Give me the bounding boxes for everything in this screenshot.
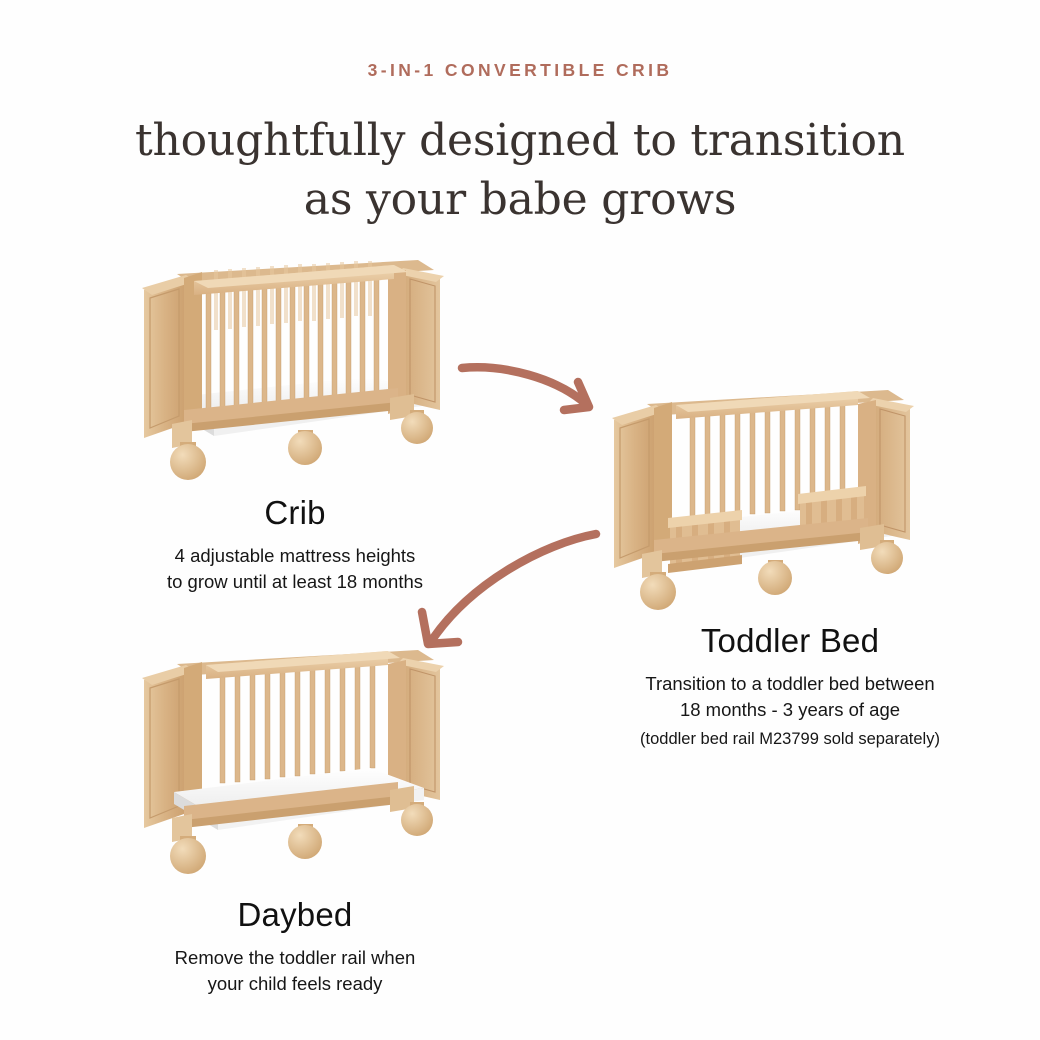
caption-toddler-description: Transition to a toddler bed between 18 m… — [590, 671, 990, 724]
toddler-foot-left — [640, 572, 676, 610]
caption-daybed-line-2: your child feels ready — [95, 971, 495, 997]
caption-daybed: Daybed Remove the toddler rail when your… — [95, 896, 495, 997]
caption-crib: Crib 4 adjustable mattress heights to gr… — [95, 494, 495, 595]
daybed-foot-left — [170, 836, 206, 874]
caption-toddler-line-2: 18 months - 3 years of age — [590, 697, 990, 723]
headline-line-1: thoughtfully designed to transition — [135, 115, 905, 166]
infographic-canvas: 3-IN-1 CONVERTIBLE CRIB thoughtfully des… — [0, 0, 1040, 1040]
crib-foot-left — [170, 442, 206, 480]
caption-daybed-description: Remove the toddler rail when your child … — [95, 945, 495, 998]
daybed-foot-front — [288, 824, 322, 859]
caption-toddler-bed: Toddler Bed Transition to a toddler bed … — [590, 622, 990, 752]
caption-crib-description: 4 adjustable mattress heights to grow un… — [95, 543, 495, 596]
caption-crib-title: Crib — [95, 494, 495, 533]
caption-daybed-line-1: Remove the toddler rail when — [95, 945, 495, 971]
eyebrow-label: 3-IN-1 CONVERTIBLE CRIB — [0, 60, 1040, 81]
caption-daybed-title: Daybed — [95, 896, 495, 935]
product-image-daybed — [122, 638, 470, 886]
toddler-foot-front — [758, 560, 792, 595]
headline-line-2: as your babe grows — [0, 171, 1040, 230]
caption-toddler-line-1: Transition to a toddler bed between — [590, 671, 990, 697]
page-title: thoughtfully designed to transition as y… — [0, 112, 1040, 229]
caption-crib-line-2: to grow until at least 18 months — [95, 569, 495, 595]
caption-crib-line-1: 4 adjustable mattress heights — [95, 543, 495, 569]
crib-foot-front — [288, 430, 322, 465]
caption-toddler-fine-print: (toddler bed rail M23799 sold separately… — [590, 728, 990, 751]
caption-toddler-title: Toddler Bed — [590, 622, 990, 661]
product-image-toddler-bed — [592, 378, 940, 626]
product-image-crib — [122, 248, 470, 496]
